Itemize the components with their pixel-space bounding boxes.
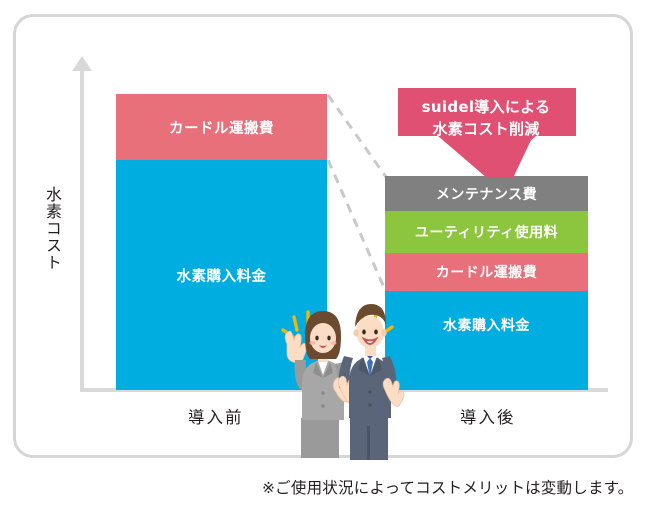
chart-canvas: 水素コスト カードル運搬費 水素購入料金 メンテナンス費 ユーティリティ使用料 … [0, 0, 650, 510]
segment-utility-usage-after[interactable]: ユーティリティ使用料 [385, 211, 588, 253]
callout-line-2: 水素コスト削減 [398, 118, 574, 140]
segment-label: カードル運搬費 [436, 262, 538, 282]
y-axis-label: 水素コスト [38, 186, 62, 271]
segment-hydrogen-purchase-after[interactable]: 水素購入料金 [385, 291, 588, 390]
segment-label: 水素購入料金 [443, 315, 530, 335]
segment-cardle-transport-after[interactable]: カードル運搬費 [385, 253, 588, 291]
x-tick-label-after: 導入後 [460, 404, 516, 428]
segment-label: 水素購入料金 [177, 265, 267, 286]
segment-maintenance-after[interactable]: メンテナンス費 [385, 176, 588, 211]
male-business-man-figure [338, 304, 404, 460]
cost-reduction-callout-text: suidel導入による 水素コスト削減 [398, 96, 574, 140]
segment-label: カードル運搬費 [169, 117, 274, 138]
x-tick-label-before: 導入前 [188, 404, 244, 428]
segment-label: ユーティリティ使用料 [415, 222, 558, 242]
footnote-text: ※ご使用状況によってコストメリットは変動します。 [262, 476, 634, 498]
segment-cardle-transport-before[interactable]: カードル運搬費 [116, 94, 327, 160]
two-business-people-illustration [278, 300, 408, 460]
segment-label: メンテナンス費 [436, 184, 537, 204]
bar-after-introduction[interactable]: メンテナンス費 ユーティリティ使用料 カードル運搬費 水素購入料金 [385, 176, 588, 390]
callout-line-1: suidel導入による [398, 96, 574, 118]
y-axis-line [80, 68, 84, 392]
